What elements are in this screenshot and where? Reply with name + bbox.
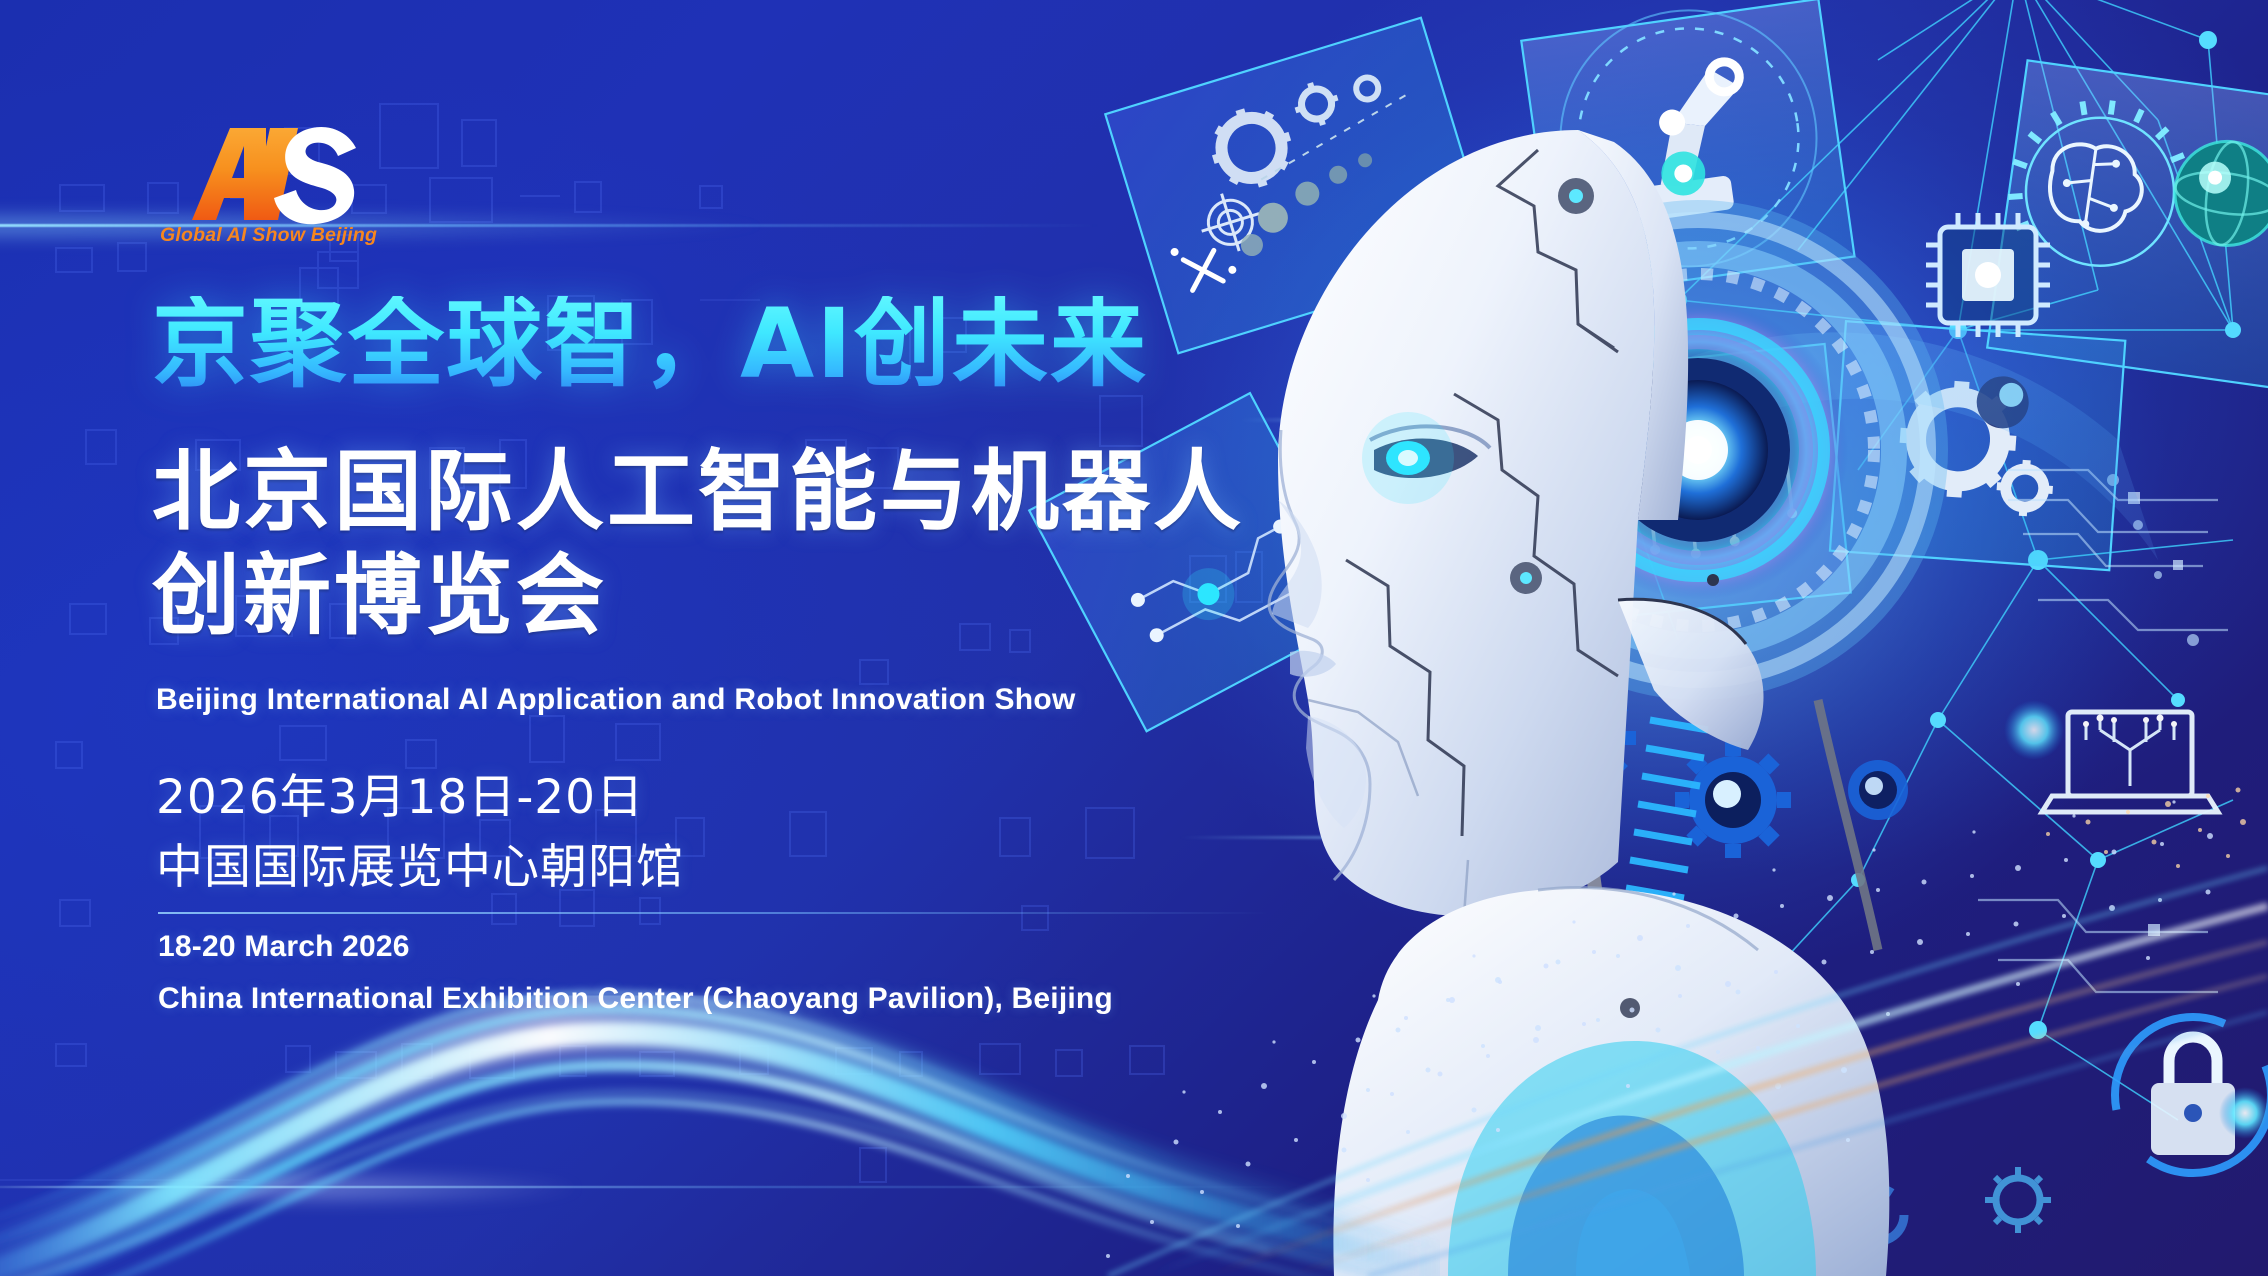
headline-slogan: 京聚全球智，AI创未来 — [152, 296, 1148, 392]
event-subtitle-en: Beijing International Al Application and… — [156, 683, 1076, 717]
poster-banner: Global AI Show Beijing 京聚全球智，AI创未来 北京国际人… — [0, 0, 2268, 1276]
poster-text-block: Global AI Show Beijing 京聚全球智，AI创未来 北京国际人… — [0, 0, 1400, 1276]
event-date-en: 18-20 March 2026 — [158, 930, 410, 964]
event-venue-en: China International Exhibition Center (C… — [158, 982, 1113, 1016]
event-venue-cn: 中国国际展览中心朝阳馆 — [156, 828, 684, 897]
ais-logo-mark — [158, 120, 398, 230]
logo-tagline: Global AI Show Beijing — [160, 224, 377, 247]
ais-logo[interactable]: Global AI Show Beijing — [158, 120, 398, 270]
event-title-cn-line2: 创新博览会 — [152, 552, 607, 640]
event-title-cn-line1: 北京国际人工智能与机器人 — [152, 448, 1244, 536]
section-divider — [158, 912, 1268, 914]
event-date-cn: 2026年3月18日-20日 — [156, 758, 644, 827]
